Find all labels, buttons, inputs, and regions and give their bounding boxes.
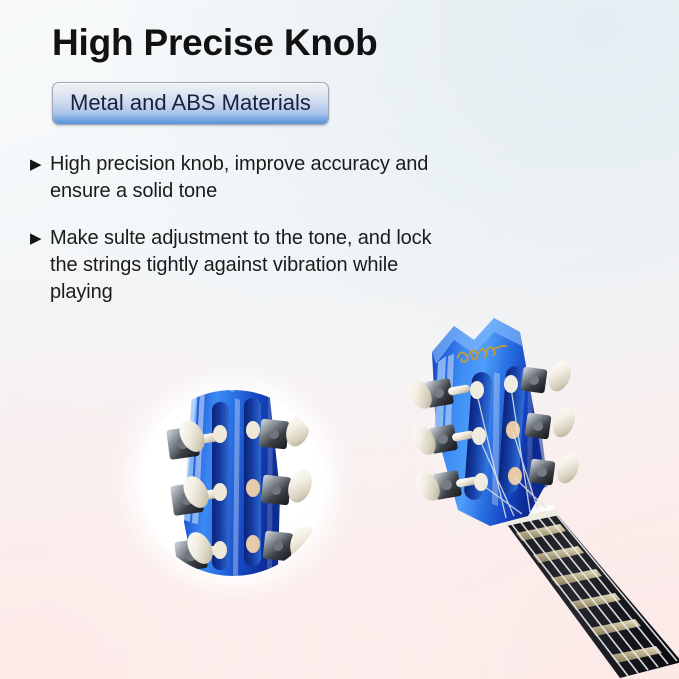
copy-block: High Precise Knob Metal and ABS Material…: [30, 20, 450, 326]
bullet-text: Make sulte adjustment to the tone, and l…: [50, 225, 450, 306]
headstock-closeup-svg: [120, 372, 350, 632]
materials-badge: Metal and ABS Materials: [52, 82, 329, 125]
list-item: ▶ Make sulte adjustment to the tone, and…: [30, 225, 450, 306]
badge-row: Metal and ABS Materials: [30, 66, 450, 125]
knob-closeup-illustration: [120, 372, 350, 632]
triangle-bullet-icon: ▶: [30, 151, 50, 178]
triangle-bullet-icon: ▶: [30, 225, 50, 252]
guitar-headstock-photo: [370, 310, 679, 679]
page-title: High Precise Knob: [30, 20, 450, 66]
feature-bullet-list: ▶ High precision knob, improve accuracy …: [30, 125, 450, 306]
headstock-svg: [370, 310, 679, 679]
product-feature-image: High Precise Knob Metal and ABS Material…: [0, 0, 679, 679]
bullet-text: High precision knob, improve accuracy an…: [50, 151, 450, 205]
list-item: ▶ High precision knob, improve accuracy …: [30, 151, 450, 205]
